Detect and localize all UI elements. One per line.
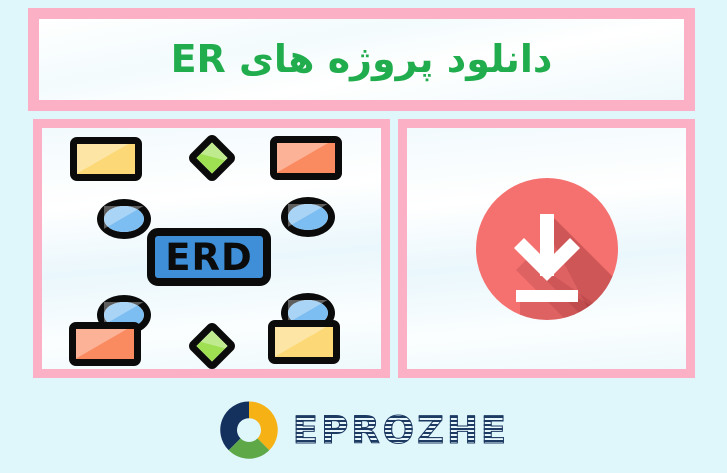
relationship-diamond-top (187, 133, 238, 184)
header-banner: دانلود پروژه های ER (28, 8, 695, 111)
attribute-ellipse-upper-left (97, 199, 151, 239)
entity-rect-bottom-left (69, 322, 141, 366)
erd-center-label: ERD (165, 239, 252, 276)
poster-canvas: دانلود پروژه های ER ERD (0, 0, 727, 473)
entity-rect-top-left (70, 137, 142, 181)
eprozhe-logo-mark (218, 399, 280, 461)
download-panel[interactable] (398, 119, 695, 378)
attribute-ellipse-upper-right (281, 197, 335, 237)
erd-center-box: ERD (147, 228, 271, 286)
relationship-diamond-bottom (187, 321, 238, 369)
entity-rect-bottom-right (268, 320, 340, 364)
header-banner-inner: دانلود پروژه های ER (39, 19, 684, 100)
brand-footer: EPROZHE (0, 394, 727, 466)
entity-rect-top-right (270, 136, 342, 180)
page-title: دانلود پروژه های ER (171, 39, 553, 81)
download-panel-canvas (407, 128, 686, 369)
download-icon[interactable] (476, 178, 618, 320)
erd-diagram-canvas: ERD (42, 128, 381, 369)
brand-name: EPROZHE (293, 412, 509, 449)
download-icon-glyph (476, 178, 618, 320)
erd-diagram-panel: ERD (33, 119, 390, 378)
